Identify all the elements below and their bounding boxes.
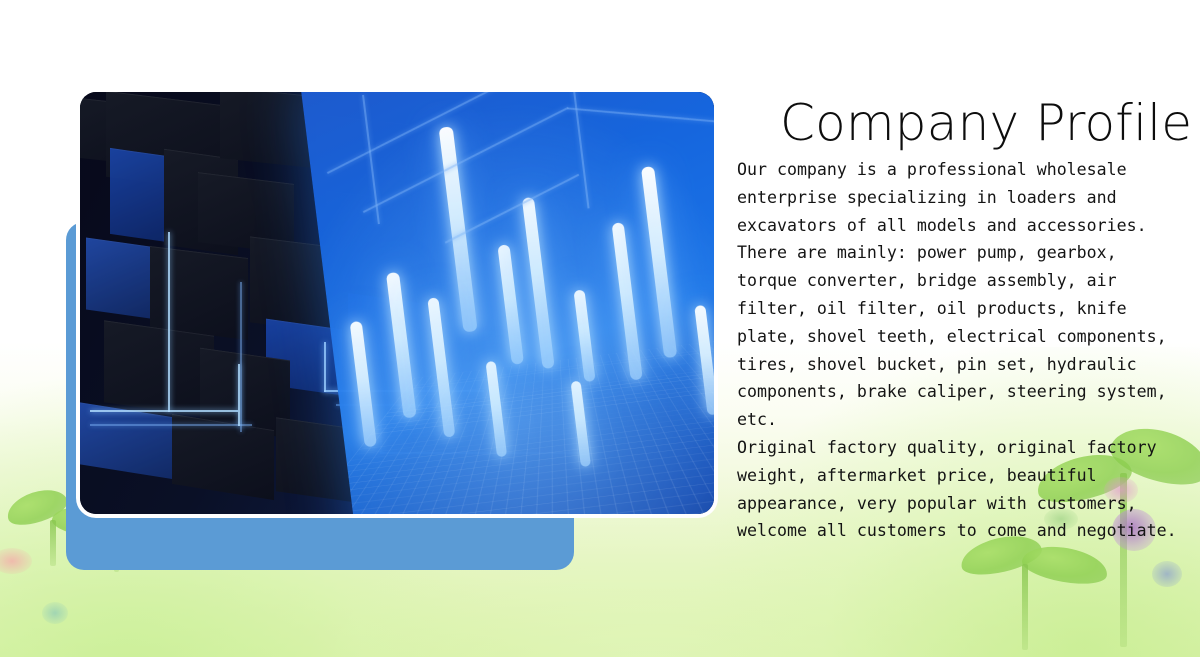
circuit-trace bbox=[238, 364, 240, 426]
light-bar bbox=[497, 244, 524, 365]
photo-block bbox=[110, 148, 168, 242]
sprout-decoration-right-low bbox=[960, 530, 1120, 650]
circuit-trace bbox=[445, 174, 580, 244]
circuit-trace bbox=[363, 107, 569, 213]
light-bar bbox=[641, 166, 677, 358]
photo-light-panel bbox=[300, 92, 714, 514]
company-photo-image bbox=[80, 92, 714, 514]
profile-text-column: Company Profile Our company is a profess… bbox=[737, 94, 1177, 545]
photo-block bbox=[86, 238, 150, 319]
light-bar bbox=[612, 222, 643, 380]
circuit-trace bbox=[324, 342, 326, 392]
circuit-trace bbox=[90, 410, 238, 412]
bokeh-circle-blue bbox=[1152, 561, 1182, 587]
profile-paragraph-1: Our company is a professional wholesale … bbox=[737, 156, 1177, 239]
stem-shape bbox=[1022, 564, 1028, 650]
bokeh-circle-teal bbox=[42, 602, 68, 624]
light-bar bbox=[350, 321, 377, 448]
light-bar bbox=[386, 272, 417, 418]
light-bar bbox=[427, 297, 455, 437]
circuit-trace bbox=[327, 92, 506, 174]
profile-paragraph-2: There are mainly: power pump, gearbox, t… bbox=[737, 239, 1177, 434]
stem-shape bbox=[50, 520, 56, 566]
profile-paragraph-3: Original factory quality, original facto… bbox=[737, 434, 1177, 545]
light-bar bbox=[439, 126, 478, 332]
circuit-trace bbox=[569, 92, 589, 208]
circuit-trace bbox=[567, 107, 714, 126]
circuit-trace bbox=[90, 424, 252, 426]
circuit-trace bbox=[240, 282, 242, 432]
photo-block bbox=[104, 320, 214, 417]
slide-canvas: Company Profile Our company is a profess… bbox=[0, 0, 1200, 657]
company-photo-card bbox=[80, 92, 714, 514]
circuit-trace bbox=[168, 232, 170, 412]
light-bar bbox=[694, 305, 714, 416]
light-bar bbox=[486, 361, 508, 458]
photo-block bbox=[150, 246, 248, 340]
light-bar bbox=[573, 289, 595, 382]
circuit-trace bbox=[362, 95, 380, 224]
profile-body: Our company is a professional wholesale … bbox=[737, 156, 1177, 545]
page-title: Company Profile bbox=[780, 94, 1177, 152]
light-bar bbox=[522, 197, 555, 369]
light-bar bbox=[571, 381, 591, 468]
